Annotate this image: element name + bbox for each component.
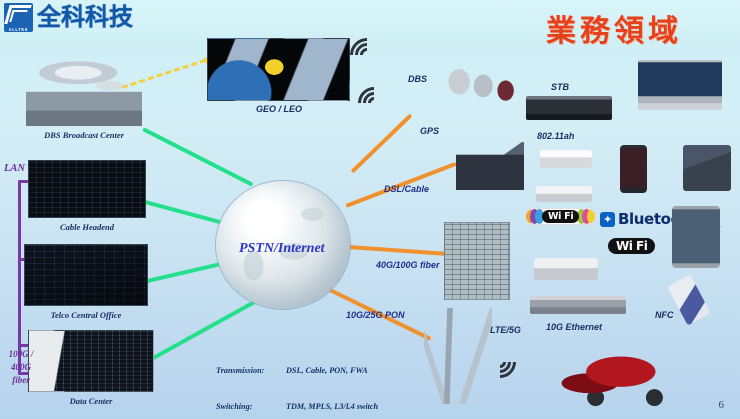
telco-central-office-caption: Telco Central Office — [20, 310, 152, 320]
page-number: 6 — [719, 399, 725, 411]
dbs-broadcast-center-image — [26, 54, 142, 126]
data-center-caption: Data Center — [30, 396, 152, 406]
transmission-key: Transmission: — [216, 365, 286, 377]
link-dbs-to-core — [142, 127, 253, 186]
bluetooth-icon — [600, 212, 615, 227]
cell-tower-image — [424, 308, 492, 404]
home-wifi-router-image — [536, 186, 592, 202]
wifi-mono-logo: Wi Fi — [608, 238, 655, 254]
lan-label: LAN — [4, 163, 25, 174]
office-building-image — [444, 222, 510, 300]
ethernet-label: 10G Ethernet — [546, 322, 602, 332]
wifi-rainbow-wordmark: Wi Fi — [542, 210, 579, 223]
electric-vehicle-image — [548, 340, 688, 412]
fiber-capacity-line3: fiber — [0, 374, 42, 387]
switching-row: Switching: TDM, MPLS, L3/L4 switch — [216, 401, 378, 413]
transmission-row: Transmission: DSL, Cable, PON, FWA — [216, 365, 378, 377]
ethernet-switch-image — [530, 296, 626, 314]
satellite-image — [207, 38, 350, 101]
cable-headend-image — [28, 160, 146, 218]
set-top-box-image — [526, 96, 612, 120]
satellite-dish-cluster-image — [440, 62, 520, 114]
laptop-image — [638, 60, 722, 110]
link-40g-100g-fiber — [348, 245, 458, 257]
switching-value: TDM, MPLS, L3/L4 switch — [286, 401, 378, 413]
telco-central-office-image — [24, 244, 148, 306]
transmission-value: DSL, Cable, PON, FWA — [286, 365, 368, 377]
smartphone-image — [620, 145, 647, 193]
satellite-caption: GEO / LEO — [205, 104, 353, 114]
wifi-certified-rainbow-logo: Wi Fi — [525, 208, 596, 225]
page-title: 業務領域 — [546, 6, 682, 50]
gps-label: GPS — [420, 126, 439, 136]
dbs-label: DBS — [408, 74, 427, 84]
fiber-link-label: 40G/100G fiber — [376, 260, 440, 270]
dsl-cable-link-label: DSL/Cable — [384, 184, 429, 194]
fiber-capacity-line1: 100G / — [0, 348, 42, 361]
wireless-access-point-image — [534, 258, 598, 280]
logo-mark-text: ALLTEK — [4, 27, 33, 32]
tablet-image — [672, 206, 720, 268]
lte-5g-label: LTE/5G — [490, 325, 521, 335]
link-core-to-stb — [351, 114, 413, 174]
wifi-802-11ah-label: 802.11ah — [537, 131, 574, 141]
wifi-logo-dot — [587, 209, 596, 224]
slide-canvas: ALLTEK 全科科技 業務領域 LAN DBS Broadcast Cente… — [0, 0, 740, 419]
ip-camera-image — [540, 150, 592, 168]
data-center-image — [28, 330, 154, 392]
ip-phone-image — [683, 145, 731, 191]
switching-key: Switching: — [216, 401, 286, 413]
fiber-capacity-label: 100G / 400G fiber — [0, 348, 42, 387]
stb-label: STB — [551, 82, 569, 92]
alltek-logo-icon: ALLTEK — [4, 3, 33, 32]
pon-link-label: 10G/25G PON — [346, 310, 405, 320]
dbs-broadcast-center-caption: DBS Broadcast Center — [22, 130, 146, 140]
transmission-switching-note: Transmission: DSL, Cable, PON, FWA Switc… — [216, 341, 378, 419]
company-logo: ALLTEK 全科科技 — [4, 3, 133, 32]
company-name: 全科科技 — [37, 3, 133, 32]
cable-headend-caption: Cable Headend — [26, 222, 148, 232]
fiber-capacity-line2: 400G — [0, 361, 42, 374]
core-network-label: PSTN/Internet — [239, 241, 325, 257]
residential-house-image — [456, 142, 524, 190]
nfc-label: NFC — [655, 310, 674, 320]
